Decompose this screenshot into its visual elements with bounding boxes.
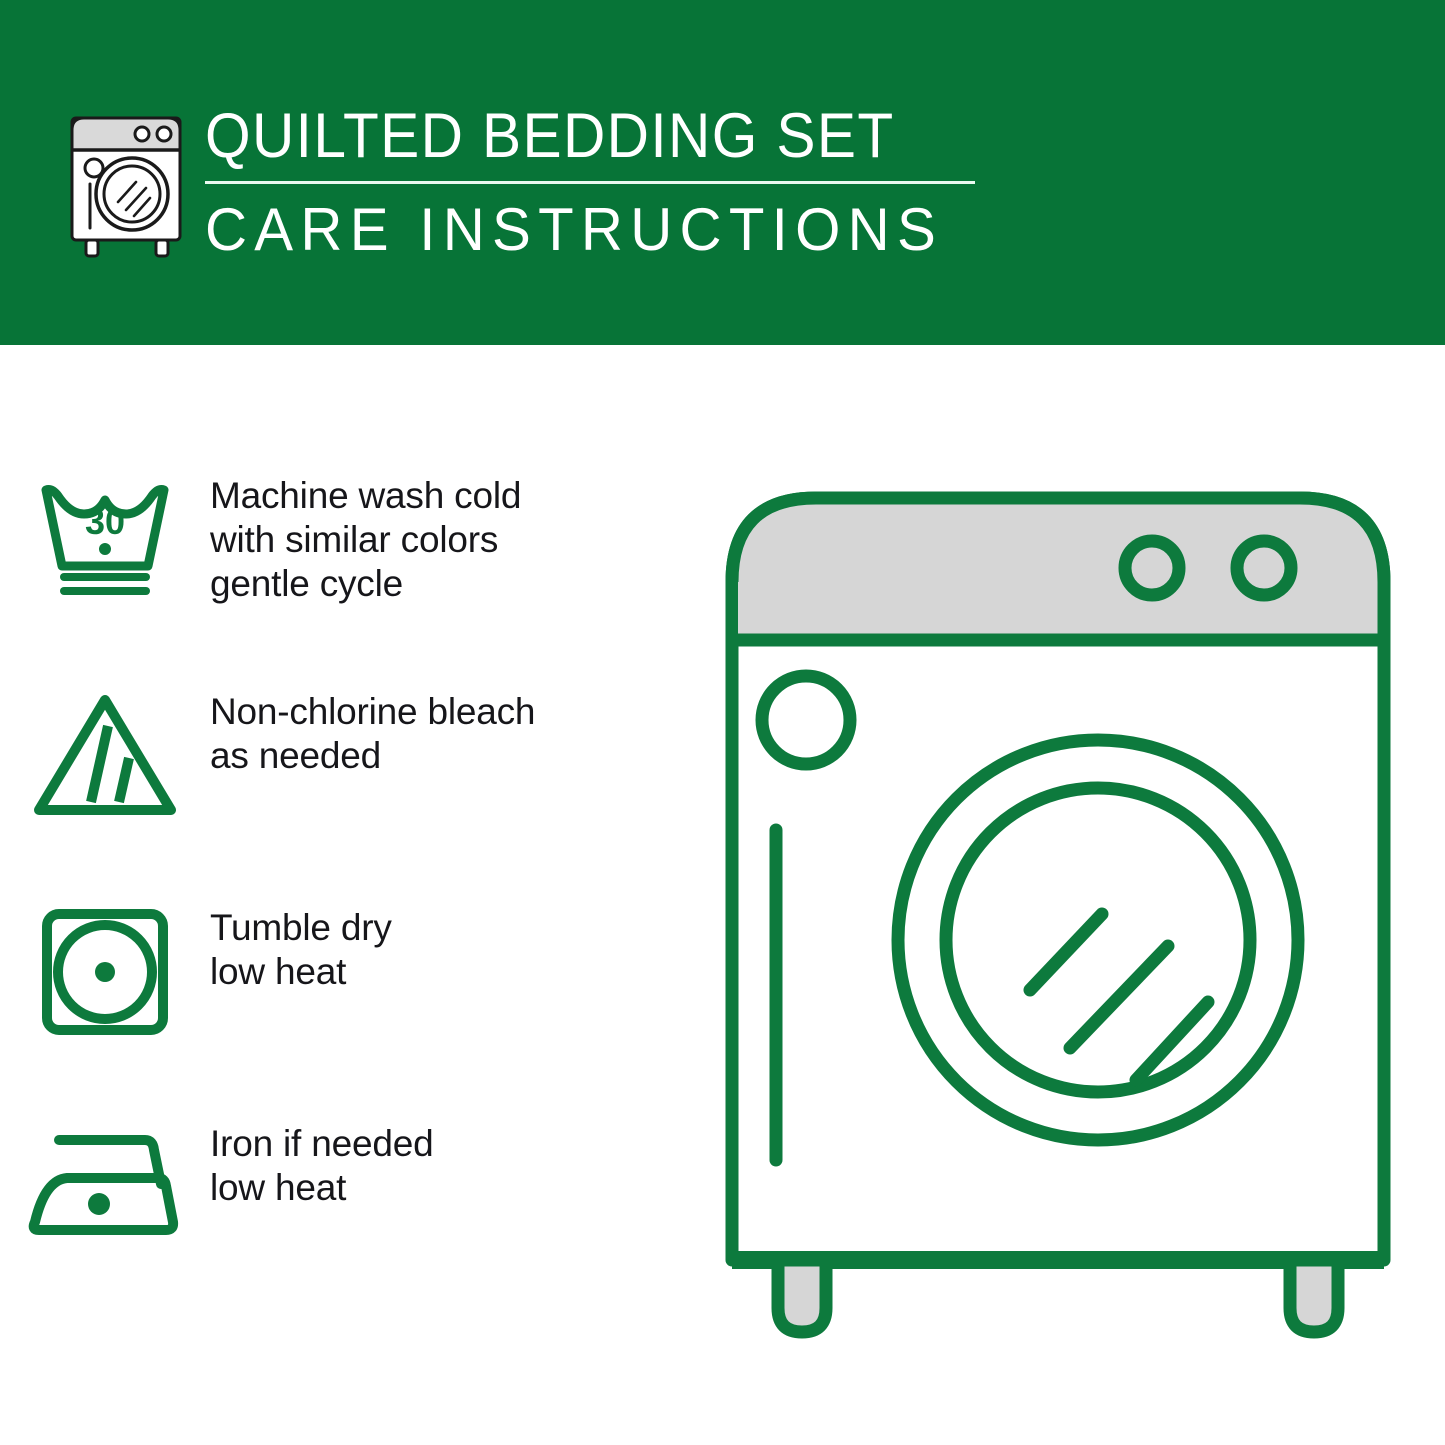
care-text-line: with similar colors [210, 518, 521, 562]
wash-tub-30-gentle-icon: 30 [0, 460, 210, 600]
care-row-machine-wash: 30 Machine wash cold with similar colors… [0, 460, 700, 676]
care-row-iron: Iron if needed low heat [0, 1108, 700, 1324]
svg-text:30: 30 [85, 501, 125, 542]
header-text-block: QUILTED BEDDING SET CARE INSTRUCTIONS [205, 103, 995, 262]
care-text-line: low heat [210, 1166, 433, 1210]
care-instructions-infographic: QUILTED BEDDING SET CARE INSTRUCTIONS 30 [0, 0, 1445, 1445]
care-text-line: gentle cycle [210, 562, 521, 606]
header-banner: QUILTED BEDDING SET CARE INSTRUCTIONS [0, 0, 1445, 345]
care-row-tumble-dry: Tumble dry low heat [0, 892, 700, 1108]
care-text-line: Machine wash cold [210, 474, 521, 518]
care-instruction-list: 30 Machine wash cold with similar colors… [0, 460, 700, 1324]
care-row-bleach: Non-chlorine bleach as needed [0, 676, 700, 892]
page-subtitle: CARE INSTRUCTIONS [205, 198, 971, 262]
care-text-line: Tumble dry [210, 906, 392, 950]
care-text-line: as needed [210, 734, 535, 778]
care-text-machine-wash: Machine wash cold with similar colors ge… [210, 460, 521, 606]
page-title: QUILTED BEDDING SET [205, 103, 940, 169]
washing-machine-illustration [718, 470, 1398, 1370]
title-divider [205, 181, 975, 184]
care-text-iron: Iron if needed low heat [210, 1108, 433, 1210]
iron-low-heat-icon [0, 1108, 210, 1248]
washing-machine-icon [62, 98, 192, 258]
care-text-tumble-dry: Tumble dry low heat [210, 892, 392, 994]
non-chlorine-bleach-triangle-icon [0, 676, 210, 826]
care-text-line: low heat [210, 950, 392, 994]
care-text-line: Iron if needed [210, 1122, 433, 1166]
care-text-line: Non-chlorine bleach [210, 690, 535, 734]
care-text-bleach: Non-chlorine bleach as needed [210, 676, 535, 778]
tumble-dry-low-icon [0, 892, 210, 1042]
